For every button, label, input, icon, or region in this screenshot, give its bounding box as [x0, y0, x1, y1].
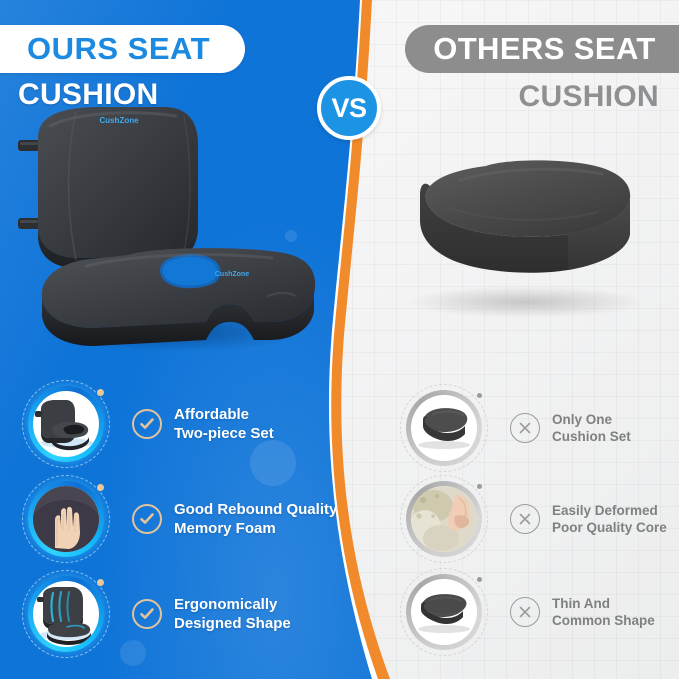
check-circle-icon	[132, 504, 162, 534]
feature-line-2: Memory Foam	[174, 519, 337, 538]
feature-line-2: Poor Quality Core	[552, 519, 667, 536]
ours-cushion-set-image: CushZone CushZone	[16, 100, 326, 350]
feature-label: Only One Cushion Set	[552, 411, 631, 446]
feature-line-1: Affordable	[174, 405, 274, 424]
thumb-accent-dot	[477, 484, 482, 489]
others-cushion-image	[390, 150, 660, 320]
thumb-accent-dot	[97, 579, 104, 586]
ours-feature-row: Affordable Two-piece Set	[22, 378, 342, 470]
feature-line-1: Easily Deformed	[552, 502, 667, 519]
feature-line-1: Only One	[552, 411, 631, 428]
two-piece-set-thumb	[22, 380, 110, 468]
ours-seat-badge: OURS SEAT	[0, 25, 245, 73]
thumb-image	[33, 581, 99, 647]
feature-label: Good Rebound Quality Memory Foam	[174, 500, 337, 538]
thumb-accent-dot	[477, 393, 482, 398]
thumb-accent-dot	[477, 577, 482, 582]
feature-line-2: Common Shape	[552, 612, 655, 629]
vs-badge: VS	[317, 76, 381, 140]
thumb-accent-dot	[97, 389, 104, 396]
thumb-image	[33, 486, 99, 552]
ours-subtitle: CUSHION	[18, 78, 158, 112]
vs-badge-label: VS	[331, 93, 366, 124]
check-circle-icon	[132, 409, 162, 439]
feature-label: Ergonomically Designed Shape	[174, 595, 291, 633]
thumb-image	[411, 579, 477, 645]
others-feature-row: Easily Deformed Poor Quality Core	[400, 473, 670, 565]
x-circle-icon	[510, 504, 540, 534]
feature-line-1: Ergonomically	[174, 595, 291, 614]
ours-feature-row: Good Rebound Quality Memory Foam	[22, 473, 342, 565]
thumb-accent-dot	[97, 484, 104, 491]
feature-label: Easily Deformed Poor Quality Core	[552, 502, 667, 537]
ours-feature-row: Ergonomically Designed Shape	[22, 568, 342, 660]
others-subtitle: CUSHION	[519, 80, 659, 114]
others-seat-badge-label: OTHERS SEAT	[433, 31, 679, 67]
feature-line-2: Designed Shape	[174, 614, 291, 633]
brand-logo-lumbar: CushZone	[99, 116, 139, 125]
comparison-infographic: CushZone CushZone	[0, 0, 679, 679]
thumb-image	[411, 486, 477, 552]
deformed-foam-thumb	[400, 475, 488, 563]
thumb-image	[33, 391, 99, 457]
others-feature-row: Only One Cushion Set	[400, 382, 670, 474]
feature-line-2: Two-piece Set	[174, 424, 274, 443]
feature-line-1: Thin And	[552, 595, 655, 612]
ours-seat-badge-label: OURS SEAT	[5, 31, 210, 67]
feature-label: Thin And Common Shape	[552, 595, 655, 630]
feature-line-1: Good Rebound Quality	[174, 500, 337, 519]
thin-cushion-thumb	[400, 568, 488, 656]
feature-label: Affordable Two-piece Set	[174, 405, 274, 443]
brand-logo-seat: CushZone	[215, 271, 249, 278]
others-feature-row: Thin And Common Shape	[400, 566, 670, 658]
feature-line-2: Cushion Set	[552, 428, 631, 445]
thumb-image	[411, 395, 477, 461]
others-seat-badge: OTHERS SEAT	[405, 25, 679, 73]
ergonomic-shape-thumb	[22, 570, 110, 658]
check-circle-icon	[132, 599, 162, 629]
single-cushion-thumb	[400, 384, 488, 472]
x-circle-icon	[510, 413, 540, 443]
x-circle-icon	[510, 597, 540, 627]
hand-press-foam-thumb	[22, 475, 110, 563]
